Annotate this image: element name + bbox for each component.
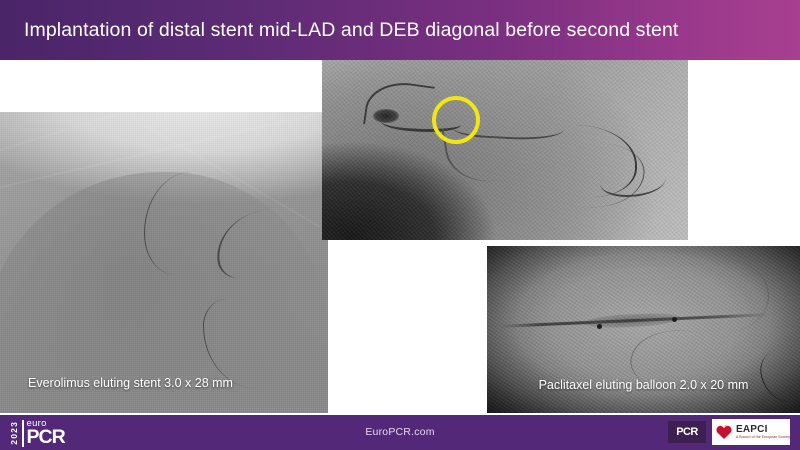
eapci-name-label: EAPCI — [736, 425, 800, 435]
page-title: Implantation of distal stent mid-LAD and… — [24, 18, 678, 42]
top-angiogram-panel — [322, 60, 688, 240]
lesion-highlight-circle — [432, 96, 480, 144]
logo-wordmark: euro PCR — [27, 419, 65, 447]
eapci-subtitle-label: A Branch of the European Society of Card… — [736, 436, 800, 439]
eapci-logo[interactable]: EAPCI A Branch of the European Society o… — [712, 419, 790, 445]
balloon-marker-distal — [672, 317, 677, 322]
pcr-badge-logo[interactable]: PCR — [668, 421, 706, 443]
presentation-slide: Everolimus eluting stent 3.0 x 28 mm — [0, 0, 800, 450]
slide-header: Implantation of distal stent mid-LAD and… — [0, 0, 800, 60]
right-panel-caption: Paclitaxel eluting balloon 2.0 x 20 mm — [487, 377, 800, 393]
image-grain — [322, 60, 688, 240]
balloon-fluoroscopy-panel: Paclitaxel eluting balloon 2.0 x 20 mm — [487, 246, 800, 413]
logo-year-label: 2023 — [10, 421, 19, 445]
eapci-text-block: EAPCI A Branch of the European Society o… — [736, 425, 800, 440]
left-panel-caption: Everolimus eluting stent 3.0 x 28 mm — [0, 375, 328, 391]
logo-divider — [22, 420, 24, 447]
europcr-logo[interactable]: 2023 euro PCR — [10, 419, 65, 447]
heart-icon — [715, 423, 733, 441]
logo-pcr-text: PCR — [27, 429, 65, 447]
left-fluoroscopy-panel: Everolimus eluting stent 3.0 x 28 mm — [0, 112, 328, 413]
balloon-marker-proximal — [597, 324, 602, 329]
pcr-badge-label: PCR — [676, 426, 697, 438]
